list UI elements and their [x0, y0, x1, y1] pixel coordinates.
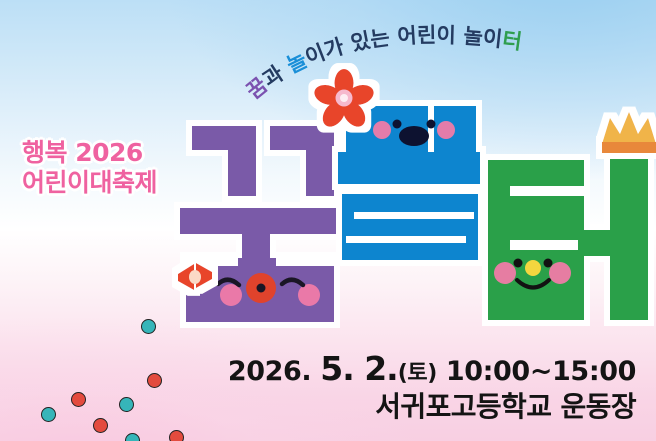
tagline-seg-2 [276, 57, 294, 81]
logo-char-teo [488, 150, 648, 320]
date-big: 5. 2. [320, 349, 397, 388]
tagline-seg-5: 터 [501, 28, 523, 54]
decorative-dot [147, 373, 162, 388]
event-title-line1: 행복 2026 [22, 138, 157, 168]
tagline-seg-3: 놀 [283, 48, 311, 78]
decorative-dot [71, 392, 86, 407]
decorative-dot [41, 407, 56, 422]
event-title: 행복 2026 어린이대축제 [22, 138, 157, 197]
poster-canvas: 꿈과 놀이가 있는 어린이 놀이터 행복 2026 어린이대축제 [0, 0, 656, 441]
date-weekday: (토) [398, 361, 437, 386]
event-title-line2: 어린이대축제 [22, 168, 157, 198]
logo-kkumnolteo [178, 88, 656, 328]
gold-crown-icon [602, 112, 656, 153]
decorative-dot [119, 397, 134, 412]
decorative-dot [169, 430, 184, 441]
event-time: 10:00~15:00 [437, 356, 636, 387]
event-venue: 서귀포고등학교 운동장 [228, 390, 636, 423]
tagline-seg-4: 이가 있는 어린이 놀이 [302, 23, 504, 69]
date-prefix: 2026. [228, 356, 320, 387]
decorative-dot [125, 433, 140, 441]
event-info: 2026. 5. 2.(토) 10:00~15:00 서귀포고등학교 운동장 [228, 351, 636, 423]
decorative-dot [141, 319, 156, 334]
decorative-dot [93, 418, 108, 433]
event-date: 2026. 5. 2.(토) 10:00~15:00 [228, 351, 636, 388]
